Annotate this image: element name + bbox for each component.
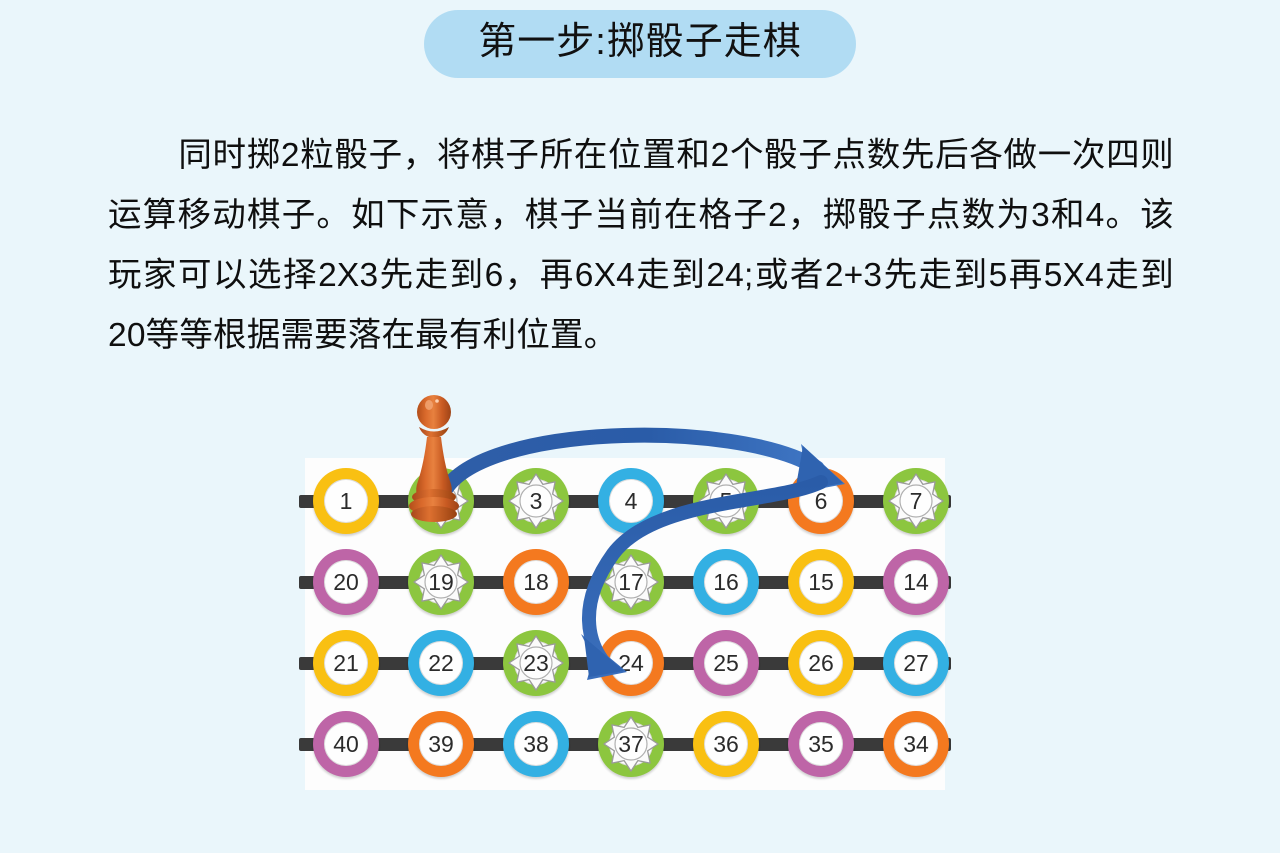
board-space-7[interactable]: 7 — [883, 468, 949, 534]
board-space-25[interactable]: 25 — [693, 630, 759, 696]
space-number: 3 — [503, 468, 569, 534]
board-space-22[interactable]: 22 — [408, 630, 474, 696]
space-number: 17 — [598, 549, 664, 615]
space-number: 38 — [503, 711, 569, 777]
space-number: 18 — [503, 549, 569, 615]
space-number: 6 — [788, 468, 854, 534]
board-space-3[interactable]: 3 — [503, 468, 569, 534]
board-space-39[interactable]: 39 — [408, 711, 474, 777]
space-number: 35 — [788, 711, 854, 777]
board-row: 20191817161514 — [305, 549, 945, 615]
space-number: 23 — [503, 630, 569, 696]
board-space-14[interactable]: 14 — [883, 549, 949, 615]
board-space-23[interactable]: 23 — [503, 630, 569, 696]
space-number: 1 — [313, 468, 379, 534]
space-number: 14 — [883, 549, 949, 615]
board-row: 40393837363534 — [305, 711, 945, 777]
space-number: 34 — [883, 711, 949, 777]
board-space-26[interactable]: 26 — [788, 630, 854, 696]
board-space-18[interactable]: 18 — [503, 549, 569, 615]
board-space-34[interactable]: 34 — [883, 711, 949, 777]
board-row: 1234567 — [305, 468, 945, 534]
board-space-24[interactable]: 24 — [598, 630, 664, 696]
board-space-40[interactable]: 40 — [313, 711, 379, 777]
player-pawn[interactable] — [406, 390, 462, 522]
board-grid: 1234567201918171615142122232425262740393… — [305, 458, 945, 790]
board-space-36[interactable]: 36 — [693, 711, 759, 777]
space-number: 36 — [693, 711, 759, 777]
space-number: 16 — [693, 549, 759, 615]
board-space-35[interactable]: 35 — [788, 711, 854, 777]
space-number: 39 — [408, 711, 474, 777]
space-number: 27 — [883, 630, 949, 696]
board-space-1[interactable]: 1 — [313, 468, 379, 534]
game-board: 1234567201918171615142122232425262740393… — [305, 458, 945, 790]
board-space-15[interactable]: 15 — [788, 549, 854, 615]
board-space-5[interactable]: 5 — [693, 468, 759, 534]
instruction-paragraph: 同时掷2粒骰子，将棋子所在位置和2个骰子点数先后各做一次四则运算移动棋子。如下示… — [108, 126, 1174, 366]
page-title-bar: 第一步:掷骰子走棋 — [0, 10, 1280, 78]
space-number: 37 — [598, 711, 664, 777]
board-space-19[interactable]: 19 — [408, 549, 474, 615]
space-number: 25 — [693, 630, 759, 696]
space-number: 22 — [408, 630, 474, 696]
board-space-17[interactable]: 17 — [598, 549, 664, 615]
page-title: 第一步:掷骰子走棋 — [424, 10, 856, 78]
space-number: 4 — [598, 468, 664, 534]
board-space-20[interactable]: 20 — [313, 549, 379, 615]
board-space-16[interactable]: 16 — [693, 549, 759, 615]
board-space-6[interactable]: 6 — [788, 468, 854, 534]
space-number: 26 — [788, 630, 854, 696]
board-space-27[interactable]: 27 — [883, 630, 949, 696]
space-number: 21 — [313, 630, 379, 696]
board-space-38[interactable]: 38 — [503, 711, 569, 777]
board-space-37[interactable]: 37 — [598, 711, 664, 777]
space-number: 19 — [408, 549, 474, 615]
space-number: 20 — [313, 549, 379, 615]
space-number: 40 — [313, 711, 379, 777]
space-number: 24 — [598, 630, 664, 696]
space-number: 7 — [883, 468, 949, 534]
board-space-21[interactable]: 21 — [313, 630, 379, 696]
space-number: 5 — [693, 468, 759, 534]
board-space-4[interactable]: 4 — [598, 468, 664, 534]
board-row: 21222324252627 — [305, 630, 945, 696]
space-number: 15 — [788, 549, 854, 615]
